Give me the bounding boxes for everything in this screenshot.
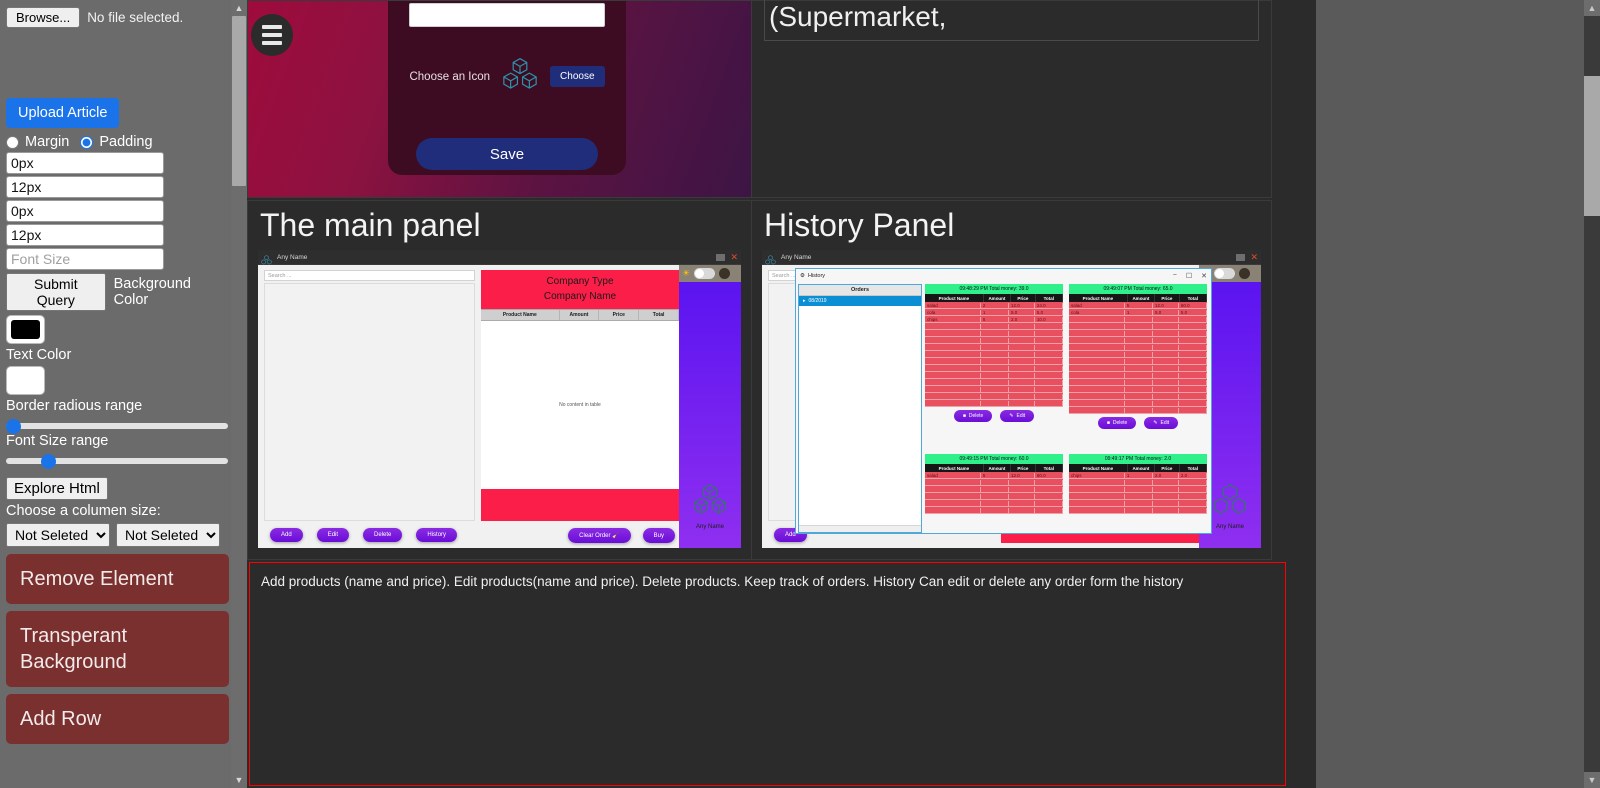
orders-tree-item[interactable]: ▸ 08/2019 <box>799 296 921 306</box>
table-row: .... <box>1069 372 1207 379</box>
brand-rail: Any Name <box>679 282 741 548</box>
history-shot-titlebar: Any Name ✕ <box>762 250 1261 265</box>
add-button[interactable]: Add <box>270 528 303 542</box>
minimize-icon[interactable] <box>716 254 725 261</box>
company-type: Company Type <box>481 275 679 290</box>
receipt-footer <box>481 489 679 521</box>
cell-price: 12.0 <box>1009 473 1035 478</box>
sidebar-scrollbar[interactable]: ▲ ▼ <box>231 0 247 788</box>
table-row: .... <box>925 386 1063 393</box>
history-panel-title: History Panel <box>764 207 1261 244</box>
cell-total: 24.0 <box>1035 303 1063 308</box>
sun-icon: ☀ <box>682 268 690 279</box>
table-row: cola 1 5.0 5.0 <box>925 309 1063 316</box>
table-row: .... <box>1069 507 1207 514</box>
company-name: Company Name <box>481 290 679 305</box>
table-row: .... <box>1069 486 1207 493</box>
font-size-input[interactable] <box>6 248 164 270</box>
description-box[interactable]: Add products (name and price). Edit prod… <box>249 562 1286 786</box>
edit-label: Edit <box>1161 420 1170 426</box>
description-text: Add products (name and price). Edit prod… <box>261 574 1183 589</box>
text-color-label: Text Color <box>6 347 227 363</box>
orders-horizontal-scrollbar[interactable] <box>799 525 921 532</box>
theme-toggle-bar: ☀ <box>679 265 741 282</box>
close-icon[interactable]: ✕ <box>1201 272 1207 280</box>
right-empty-area <box>1316 0 1584 788</box>
history-panel-screenshot: Any Name ✕ Search ... Add <box>762 250 1261 548</box>
col-amount: Amount <box>984 464 1011 472</box>
page-scrollbar-thumb[interactable] <box>1584 76 1600 216</box>
scroll-down-icon[interactable]: ▼ <box>231 772 247 788</box>
edit-button[interactable]: Edit <box>317 528 349 542</box>
table-row: .... <box>1069 351 1207 358</box>
cell-price: 5.0 <box>1009 310 1035 315</box>
receipt-table-header: Product Name Amount Price Total <box>481 309 679 321</box>
scroll-up-icon[interactable]: ▲ <box>231 0 247 16</box>
cell-name: salad <box>1069 303 1125 308</box>
orders-tree-pane: Orders ▸ 08/2019 <box>798 284 922 533</box>
sidebar-scrollbar-thumb[interactable] <box>232 16 246 186</box>
products-pane: Search ... Add Edit Delete History <box>258 265 481 548</box>
moon-icon <box>719 268 730 279</box>
table-row: .... <box>1069 344 1207 351</box>
order-table-rows: chips 1 2.0 2.0 .... .... .... .. <box>1069 472 1207 514</box>
history-button[interactable]: History <box>416 528 457 542</box>
order-action-buttons: Clear Order 🧹 Buy <box>481 528 679 543</box>
cell-total: 2.0 <box>1179 473 1207 478</box>
receipt-pane: Company Type Company Name Product Name A… <box>481 265 679 548</box>
table-row: salad 2 12.0 24.0 <box>925 302 1063 309</box>
delete-order-button[interactable]: ■ Delete <box>1098 417 1136 429</box>
table-row: .... <box>925 344 1063 351</box>
table-row: .... <box>1069 337 1207 344</box>
cell-amount: 5 <box>981 317 1009 322</box>
canvas-row-middle: The main panel Any Name <box>247 200 1316 560</box>
receipt-empty-message: No content in table <box>481 321 679 489</box>
shot-titlebar: Any Name ✕ <box>258 250 741 265</box>
broom-icon: 🧹 <box>612 533 619 539</box>
col-amount: Amount <box>560 310 600 320</box>
app-boxes-icon <box>765 252 776 262</box>
order-table-rows: salad 2 12.0 24.0 cola 1 5 <box>925 302 1063 407</box>
table-row: chips 1 2.0 2.0 <box>1069 472 1207 479</box>
col-total: Total <box>1036 464 1063 472</box>
column-size-select-2[interactable]: Not Seleted <box>116 523 220 547</box>
orders-column-header: Orders <box>799 285 921 296</box>
cell-amount: 1 <box>981 310 1009 315</box>
file-input-row: Browse... No file selected. <box>4 4 227 28</box>
intro-text-cell[interactable]: used in many scenarios, (Supermarket, Ba… <box>752 0 1272 198</box>
margin-radio[interactable] <box>6 136 19 149</box>
order-table-header: Product Name Amount Price Total <box>925 294 1063 302</box>
cell-amount: 1 <box>1125 473 1153 478</box>
order-table-rows: salad 5 12.0 60.0 .... .... .... <box>925 472 1063 514</box>
table-row: .... <box>925 507 1063 514</box>
col-price: Price <box>1011 294 1036 302</box>
cell-total: 60.0 <box>1035 473 1063 478</box>
col-total: Total <box>1180 464 1207 472</box>
background-color-label: Background Color <box>114 276 227 308</box>
table-row: .... <box>1069 393 1207 400</box>
col-total: Total <box>639 310 679 320</box>
app-boxes-icon <box>261 252 272 262</box>
order-card: 09:49:15 PM Total money: 60.0 Product Na… <box>925 454 1063 533</box>
window-controls: ✕ <box>1236 253 1258 262</box>
table-row: .... <box>925 351 1063 358</box>
remove-element-button[interactable]: Remove Element <box>6 554 229 604</box>
trash-icon: ■ <box>963 413 966 419</box>
order-card-actions: ■ Delete ✎ Edit <box>925 410 1063 422</box>
order-summary-header: 09:48:29 PM Total money: 39.0 <box>925 284 1063 294</box>
col-total: Total <box>1180 294 1207 302</box>
app-root: Browse... No file selected. Upload Artic… <box>0 0 1600 788</box>
cell-price: 12.0 <box>1153 303 1179 308</box>
minimize-icon[interactable]: − <box>1173 272 1177 280</box>
order-card: 09:49:07 PM Total money: 65.0 Product Na… <box>1069 284 1207 448</box>
cell-price: 2.0 <box>1153 473 1179 478</box>
order-table-header: Product Name Amount Price Total <box>1069 294 1207 302</box>
scroll-down-icon[interactable]: ▼ <box>1584 772 1600 788</box>
expand-triangle-icon[interactable]: ▸ <box>803 298 806 304</box>
trash-icon: ■ <box>1107 420 1110 426</box>
shot-body: Search ... Add Edit Delete History <box>258 265 741 548</box>
cell-total: 5.0 <box>1179 310 1207 315</box>
history-dialog-body: Orders ▸ 08/2019 09:48:29 PM <box>796 282 1211 535</box>
close-icon[interactable]: ✕ <box>1250 253 1258 262</box>
close-icon[interactable]: ✕ <box>730 253 738 262</box>
order-summary-header: 09:49:17 PM Total money: 2.0 <box>1069 454 1207 464</box>
col-product-name: Product Name <box>1069 464 1128 472</box>
intro-paragraph: used in many scenarios, (Supermarket, Ba… <box>764 0 1259 41</box>
table-row: .... <box>1069 407 1207 414</box>
table-row: .... <box>1069 316 1207 323</box>
rail-name-label: Any Name <box>696 524 724 530</box>
table-row: .... <box>925 400 1063 407</box>
col-price: Price <box>1155 294 1180 302</box>
submit-query-button[interactable]: Submit Query <box>6 273 106 311</box>
browse-button[interactable]: Browse... <box>6 7 80 28</box>
cell-price: 2.0 <box>1009 317 1035 322</box>
cell-total: 60.0 <box>1179 303 1207 308</box>
table-row: cola 1 5.0 5.0 <box>1069 309 1207 316</box>
table-row: .... <box>925 337 1063 344</box>
rail-boxes-icon <box>692 483 728 521</box>
choose-icon-button[interactable]: Choose <box>550 66 604 87</box>
table-row: salad 5 12.0 60.0 <box>925 472 1063 479</box>
cell-amount: 2 <box>981 303 1009 308</box>
rail-name-label: Any Name <box>1216 524 1244 530</box>
canvas-row-top: Choose an Icon Choose <box>247 0 1316 200</box>
table-row: .... <box>1069 330 1207 337</box>
orders-tree-item-label: 08/2019 <box>809 298 827 304</box>
column-size-select-1[interactable]: Not Seleted <box>6 523 110 547</box>
history-gear-icon: ⚙ <box>800 273 805 279</box>
spacing-top-input[interactable] <box>6 152 164 174</box>
table-row: .... <box>925 372 1063 379</box>
text-color-picker[interactable] <box>6 366 45 395</box>
page-scrollbar[interactable]: ▲ ▼ <box>1584 0 1600 788</box>
cell-name: salad <box>925 473 981 478</box>
col-product-name: Product Name <box>1069 294 1128 302</box>
product-list[interactable] <box>264 283 475 521</box>
orders-tree-empty <box>799 306 921 525</box>
col-price: Price <box>599 310 639 320</box>
edit-label: Edit <box>1017 413 1026 419</box>
icon-picker-card: Choose an Icon Choose <box>388 0 626 175</box>
pencil-icon: ✎ <box>1009 413 1013 419</box>
history-dialog-title: History <box>808 273 825 279</box>
table-row: .... <box>925 379 1063 386</box>
table-row: .... <box>925 365 1063 372</box>
table-row: .... <box>925 493 1063 500</box>
delete-label: Delete <box>969 413 983 419</box>
theme-rail: ☀ <box>679 265 741 548</box>
cell-name: salad <box>925 303 981 308</box>
theme-toggle[interactable] <box>1214 268 1235 279</box>
search-input[interactable]: Search ... <box>264 270 475 281</box>
cell-amount: 5 <box>981 473 1009 478</box>
table-row: .... <box>1069 379 1207 386</box>
spacing-bottom-input[interactable] <box>6 200 164 222</box>
maximize-icon[interactable]: ☐ <box>1186 272 1192 280</box>
save-button[interactable]: Save <box>416 138 598 170</box>
history-panel-cell[interactable]: History Panel Any Name <box>752 200 1272 560</box>
column-size-label: Choose a columen size: <box>6 503 227 519</box>
history-dialog-titlebar: ⚙ History − ☐ ✕ <box>796 269 1211 282</box>
cell-amount: 5 <box>1125 303 1153 308</box>
order-table-rows: salad 5 12.0 60.0 cola 1 5 <box>1069 302 1207 414</box>
hamburger-menu-icon[interactable] <box>251 14 293 56</box>
col-total: Total <box>1036 294 1063 302</box>
add-row-button[interactable]: Add Row <box>6 694 229 744</box>
table-row: .... <box>925 323 1063 330</box>
font-size-range-label: Font Size range <box>6 433 227 449</box>
spacing-mode-radio-group: Margin Padding <box>6 134 227 150</box>
product-action-buttons: Add Edit Delete History <box>264 528 475 542</box>
table-row: .... <box>1069 323 1207 330</box>
cell-amount: 1 <box>1125 310 1153 315</box>
main-panel-cell[interactable]: The main panel Any Name <box>247 200 752 560</box>
spacing-right-input[interactable] <box>6 176 164 198</box>
explore-html-button[interactable]: Explore Html <box>6 477 108 500</box>
main-panel-title: The main panel <box>260 207 741 244</box>
col-amount: Amount <box>984 294 1011 302</box>
card-name-input[interactable] <box>409 3 605 27</box>
delete-button[interactable]: Delete <box>363 528 402 542</box>
buy-button[interactable]: Buy <box>643 528 675 543</box>
table-row: .... <box>925 358 1063 365</box>
history-shot-window-title: Any Name <box>781 254 811 261</box>
cell-name: chips <box>1069 473 1125 478</box>
padding-radio[interactable] <box>80 136 93 149</box>
font-size-slider[interactable] <box>6 458 228 464</box>
order-card: 09:48:29 PM Total money: 39.0 Product Na… <box>925 284 1063 448</box>
cell-price: 5.0 <box>1153 310 1179 315</box>
clear-order-label: Clear Order <box>579 533 610 539</box>
submit-row: Submit Query Background Color <box>6 273 227 311</box>
col-product-name: Product Name <box>481 310 560 320</box>
history-window-controls: − ☐ ✕ <box>1173 272 1207 280</box>
delete-label: Delete <box>1113 420 1127 426</box>
choose-icon-label: Choose an Icon <box>409 71 490 83</box>
table-row: .... <box>925 330 1063 337</box>
order-summary-header: 09:49:15 PM Total money: 60.0 <box>925 454 1063 464</box>
receipt-header: Company Type Company Name <box>481 270 679 309</box>
border-radius-slider[interactable] <box>6 423 228 429</box>
choose-icon-row: Choose an Icon Choose <box>409 57 604 96</box>
order-summary-header: 09:49:07 PM Total money: 65.0 <box>1069 284 1207 294</box>
table-row: .... <box>1069 386 1207 393</box>
table-row: .... <box>1069 479 1207 486</box>
file-status-label: No file selected. <box>87 10 183 25</box>
table-row: .... <box>925 393 1063 400</box>
clear-order-button[interactable]: Clear Order 🧹 <box>568 528 631 543</box>
moon-icon <box>1239 268 1250 279</box>
window-controls: ✕ <box>716 253 738 262</box>
background-color-picker[interactable] <box>6 315 45 344</box>
edit-order-button[interactable]: ✎ Edit <box>1000 410 1034 422</box>
boxes-icon <box>501 57 539 96</box>
border-radius-label: Border radious range <box>6 398 227 414</box>
table-row: salad 5 12.0 60.0 <box>1069 302 1207 309</box>
table-row: .... <box>1069 500 1207 507</box>
table-row: chips 5 2.0 10.0 <box>925 316 1063 323</box>
order-cards-grid: 09:48:29 PM Total money: 39.0 Product Na… <box>925 284 1209 533</box>
order-table-header: Product Name Amount Price Total <box>925 464 1063 472</box>
editor-sidebar: Browse... No file selected. Upload Artic… <box>0 0 231 788</box>
col-amount: Amount <box>1128 464 1155 472</box>
main-panel-screenshot: Any Name ✕ Search ... Add Edit <box>258 250 741 548</box>
col-product-name: Product Name <box>925 464 984 472</box>
col-price: Price <box>1155 464 1180 472</box>
hero-cell[interactable]: Choose an Icon Choose <box>247 0 752 198</box>
shot-window-title: Any Name <box>277 254 307 261</box>
cell-total: 10.0 <box>1035 317 1063 322</box>
cell-name: cola <box>1069 310 1125 315</box>
history-dialog: ⚙ History − ☐ ✕ Orders <box>795 268 1212 534</box>
padding-label[interactable]: Padding <box>99 134 152 150</box>
col-price: Price <box>1011 464 1036 472</box>
table-row: .... <box>1069 493 1207 500</box>
cell-price: 12.0 <box>1009 303 1035 308</box>
theme-toggle[interactable] <box>694 268 715 279</box>
rail-boxes-icon <box>1212 483 1248 521</box>
table-row: .... <box>1069 365 1207 372</box>
upload-article-button[interactable]: Upload Article <box>6 98 119 128</box>
spacing-left-input[interactable] <box>6 224 164 246</box>
order-card-actions: ■ Delete ✎ Edit <box>1069 417 1207 429</box>
margin-label[interactable]: Margin <box>25 134 69 150</box>
pencil-icon: ✎ <box>1153 420 1157 426</box>
table-row: .... <box>1069 358 1207 365</box>
cell-name: cola <box>925 310 981 315</box>
table-row: .... <box>925 479 1063 486</box>
table-row: .... <box>1069 400 1207 407</box>
minimize-icon[interactable] <box>1236 254 1245 261</box>
col-product-name: Product Name <box>925 294 984 302</box>
scroll-up-icon[interactable]: ▲ <box>1584 0 1600 16</box>
order-card: 09:49:17 PM Total money: 2.0 Product Nam… <box>1069 454 1207 533</box>
delete-order-button[interactable]: ■ Delete <box>954 410 992 422</box>
table-row: .... <box>925 500 1063 507</box>
col-amount: Amount <box>1128 294 1155 302</box>
cell-name: chips <box>925 317 981 322</box>
table-row: .... <box>925 486 1063 493</box>
order-table-header: Product Name Amount Price Total <box>1069 464 1207 472</box>
page-canvas: Choose an Icon Choose <box>247 0 1316 788</box>
transparent-background-button[interactable]: Transperant Background <box>6 611 229 687</box>
edit-order-button[interactable]: ✎ Edit <box>1144 417 1178 429</box>
column-size-selects: Not Seleted Not Seleted <box>6 523 227 547</box>
cell-total: 5.0 <box>1035 310 1063 315</box>
